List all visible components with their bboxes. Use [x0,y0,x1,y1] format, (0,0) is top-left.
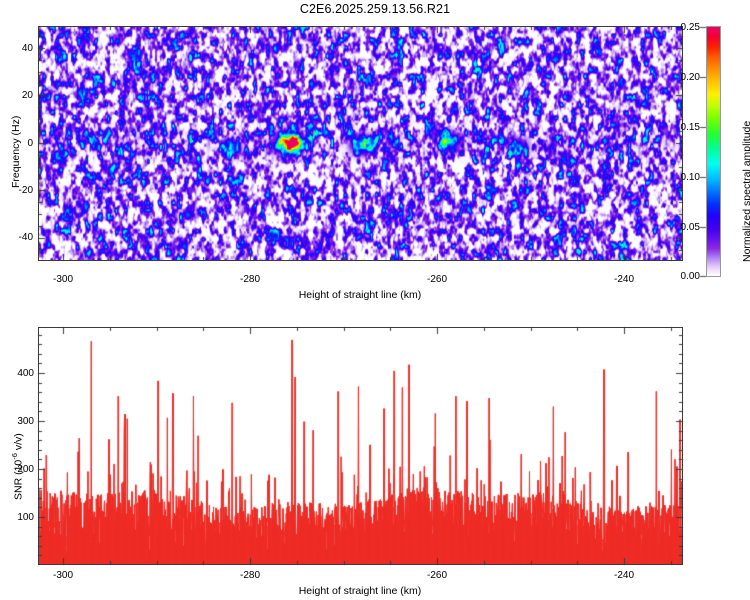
spectrogram-x-axis-label: Height of straight line (km) [210,289,510,301]
snr-plot-area[interactable] [38,327,683,565]
spectrogram-ytick-20: 20 [8,90,33,101]
colorbar-tick-0-25: 0.25 [672,22,700,33]
spectrogram-image [39,27,682,260]
snr-xtick-neg240: -240 [599,570,649,581]
snr-xtick-neg300: -300 [38,570,88,581]
colorbar[interactable] [706,26,721,277]
spectrogram-ytick-0: 0 [8,138,33,149]
colorbar-axis-label: Normalized spectral amplitude [741,121,750,262]
spectrogram-ytick-neg40: -40 [8,232,33,243]
colorbar-tick-0-00: 0.00 [672,271,700,282]
snr-ytick-100: 100 [6,512,34,523]
colorbar-tick-0-15: 0.15 [672,122,700,133]
snr-ytick-300: 300 [6,416,34,427]
snr-y-axis-label-exponent: -6 [10,453,19,460]
snr-y-axis-label-suffix: v/v) [13,433,25,453]
page-title: C2E6.2025.259.13.56.R21 [0,2,750,16]
spectrogram-xtick-neg300: -300 [38,274,88,285]
spectrogram-xtick-neg240: -240 [599,274,649,285]
snr-x-axis-label: Height of straight line (km) [210,585,510,597]
figure-canvas: C2E6.2025.259.13.56.R21 Frequency (Hz) H… [0,0,750,600]
colorbar-tick-0-05: 0.05 [672,222,700,233]
spectrogram-ytick-neg20: -20 [8,185,33,196]
spectrogram-y-axis-label: Frequency (Hz) [10,116,22,188]
snr-ytick-200: 200 [6,464,34,475]
colorbar-gradient [706,26,721,277]
spectrogram-plot-area[interactable] [38,26,683,261]
snr-xtick-neg280: -280 [225,570,275,581]
colorbar-tick-0-10: 0.10 [672,172,700,183]
snr-ytick-400: 400 [6,368,34,379]
spectrogram-xtick-neg280: -280 [225,274,275,285]
snr-trace [39,328,682,564]
colorbar-tick-0-20: 0.20 [672,72,700,83]
spectrogram-xtick-neg260: -260 [412,274,462,285]
spectrogram-ytick-40: 40 [8,43,33,54]
snr-xtick-neg260: -260 [412,570,462,581]
